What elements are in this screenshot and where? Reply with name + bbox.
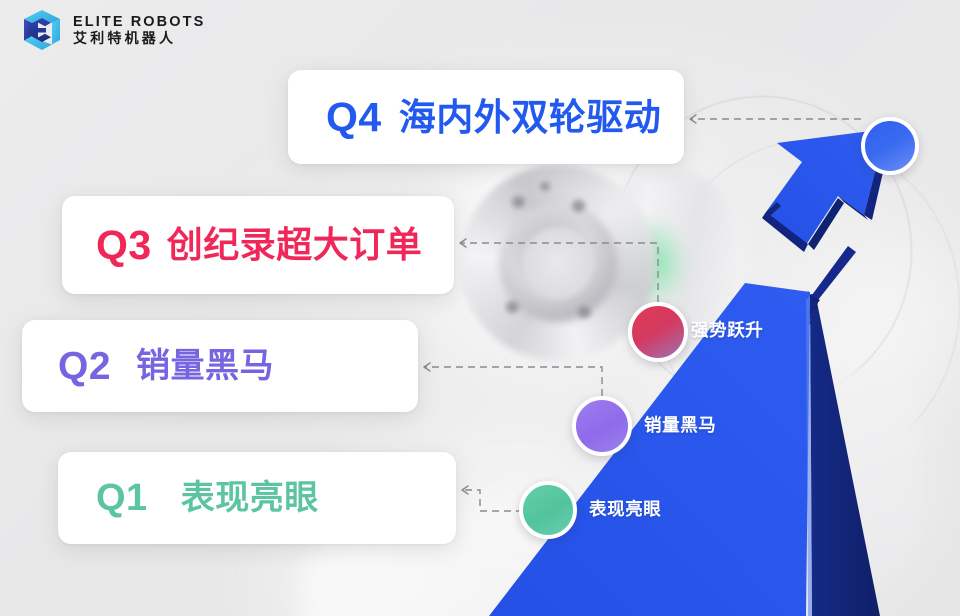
background-panel	[700, 372, 914, 572]
quarter-label-q4: Q4	[326, 97, 382, 138]
connector-arrowhead-q2	[424, 363, 430, 371]
brand-name-en: ELITE ROBOTS	[73, 15, 205, 30]
milestone-dot-q2[interactable]	[572, 396, 632, 456]
elite-robots-cube-logo-icon	[22, 9, 62, 51]
quarter-label-q1: Q1	[96, 479, 148, 517]
milestone-dot-q1[interactable]	[519, 481, 577, 539]
quarter-card-q4[interactable]: Q4 海内外双轮驱动	[288, 70, 684, 164]
robot-bolt-hole	[512, 196, 525, 208]
milestone-dot-q4[interactable]	[861, 117, 919, 175]
quarter-label-q2: Q2	[58, 347, 111, 386]
quarter-text-q1: 表现亮眼	[181, 481, 319, 515]
milestone-label-q3: 强势跃升	[691, 322, 763, 340]
robot-flange-bore	[522, 227, 594, 299]
quarter-text-q4: 海内外双轮驱动	[399, 99, 662, 136]
quarter-card-q2[interactable]: Q2 销量黑马	[22, 320, 418, 412]
quarter-card-q1[interactable]: Q1 表现亮眼	[58, 452, 456, 544]
robot-bolt-hole	[578, 306, 591, 318]
robot-bolt-hole	[572, 200, 585, 212]
brand-name-cn: 艾利特机器人	[73, 31, 205, 45]
quarter-label-q3: Q3	[96, 225, 152, 266]
milestone-label-q1: 表现亮眼	[589, 501, 661, 519]
quarter-text-q3: 创纪录超大订单	[167, 227, 423, 263]
robot-bolt-hole	[540, 182, 550, 191]
brand-wordmark: ELITE ROBOTS 艾利特机器人	[73, 15, 205, 46]
robot-bolt-hole	[506, 301, 519, 313]
quarter-card-q3[interactable]: Q3 创纪录超大订单	[62, 196, 454, 294]
connector-arrowhead-q1	[462, 486, 468, 494]
connector-q2	[424, 367, 602, 396]
brand-logo: ELITE ROBOTS 艾利特机器人	[22, 9, 205, 51]
quarter-text-q2: 销量黑马	[136, 349, 274, 383]
infographic-stage: ELITE ROBOTS 艾利特机器人	[0, 0, 960, 616]
milestone-dot-q3[interactable]	[628, 302, 688, 362]
milestone-label-q2: 销量黑马	[644, 417, 716, 435]
